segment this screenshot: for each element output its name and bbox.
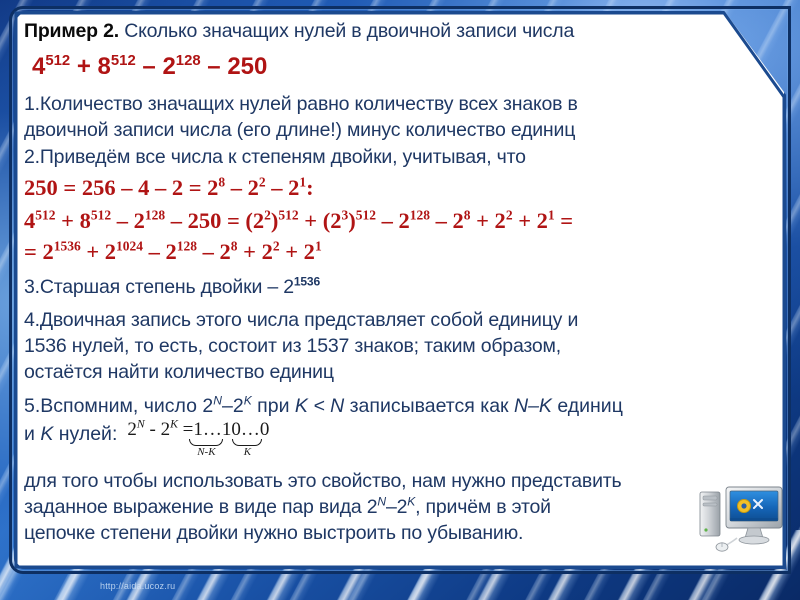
- step-5-lead: и K нулей:: [24, 421, 117, 447]
- fe1-s2: 512: [91, 208, 111, 223]
- expr-op-3: –: [207, 53, 220, 80]
- step-2-text: 2.Приведём все числа к степеням двойки, …: [24, 144, 784, 170]
- s5-i2: N–K: [514, 395, 552, 417]
- s5-p7: нулей:: [53, 423, 117, 445]
- fe1-p9: – 2: [430, 208, 464, 233]
- formula-250: 250 = 256 – 4 – 2 = 28 – 22 – 21:: [24, 174, 784, 202]
- step-6-line-3: цепочке степени двойки нужно выстроить п…: [24, 520, 784, 546]
- step-4-line-2: 1536 нулей, то есть, состоит из 1537 зна…: [24, 333, 784, 359]
- s6-supK: K: [407, 495, 415, 509]
- fe1-s8: 128: [410, 208, 430, 223]
- mi-base2: 2: [161, 419, 171, 440]
- expr-exp-3: 128: [176, 53, 201, 69]
- formula-250-exp-2: 2: [259, 175, 266, 190]
- fe1-s1: 512: [35, 208, 55, 223]
- formula-250-tail: :: [306, 175, 314, 200]
- heading-text: Сколько значащих нулей в двоичной записи…: [124, 20, 574, 42]
- step-1-line-2: двоичной записи числа (его длине!) минус…: [24, 117, 784, 143]
- step-6-line-1: для того чтобы использовать это свойство…: [24, 468, 784, 494]
- fe1-s5: 512: [278, 208, 298, 223]
- fe1-s3: 128: [145, 208, 165, 223]
- underbrace-right-curve: [232, 439, 262, 446]
- s5-p2: –2: [222, 395, 244, 417]
- s5-s1: N: [213, 394, 222, 408]
- fe1-p11: + 2: [513, 208, 548, 233]
- watermark-url: http://aida.ucoz.ru: [100, 581, 175, 591]
- mi-eq: =: [183, 419, 194, 440]
- expr-base-2: 8: [98, 53, 111, 80]
- formula-250-mid-2: – 2: [266, 175, 300, 200]
- heading-label: Пример 2.: [24, 20, 119, 42]
- s5-p4: записывается как: [344, 395, 514, 417]
- s6-p1: заданное выражение в виде пар вида 2: [24, 496, 377, 518]
- underbrace-left: N-K: [189, 439, 223, 458]
- binary-identity-formula: 2N - 2K =1…10…0 N-K K: [127, 419, 269, 455]
- s5-p1: 5.Вспомним, число 2: [24, 395, 213, 417]
- expr-op-1: +: [77, 53, 91, 80]
- main-expression: 4512 + 8512 – 2128 – 250: [32, 52, 784, 82]
- fe1-s11: 1: [548, 208, 555, 223]
- underbrace-left-curve: [189, 439, 223, 446]
- desktop-computer-icon: [694, 482, 786, 556]
- step-4-line-1: 4.Двоичная запись этого числа представля…: [24, 307, 784, 333]
- step-4-line-3: остаётся найти количество единиц: [24, 359, 784, 385]
- step-5-line-1: 5.Вспомним, число 2N–2K при K < N записы…: [24, 393, 784, 419]
- fe2-s2: 1024: [116, 239, 143, 254]
- fe1-p12: =: [555, 208, 573, 233]
- s6-p3: , причём в этой: [415, 496, 551, 518]
- fe2-s6: 1: [315, 239, 322, 254]
- mi-digit-mid: 0: [231, 419, 241, 440]
- formula-expand-line-1: 4512 + 8512 – 2128 – 250 = (22)512 + (23…: [24, 207, 784, 235]
- slide-heading: Пример 2. Сколько значащих нулей в двоич…: [24, 18, 784, 44]
- formula-250-mid-1: – 2: [225, 175, 259, 200]
- s5-p3: при: [252, 395, 295, 417]
- mi-digits-a: 1…1: [193, 419, 231, 440]
- step-5-line-2: и K нулей: 2N - 2K =1…10…0 N-K K: [24, 421, 784, 457]
- fe2-p5: + 2: [238, 239, 273, 264]
- step-3-line: 3.Старшая степень двойки – 21536: [24, 274, 784, 300]
- mi-minus: -: [149, 419, 155, 440]
- formula-expand-line-2: = 21536 + 21024 – 2128 – 28 + 22 + 21: [24, 238, 784, 266]
- step-1-line-1: 1.Количество значащих нулей равно количе…: [24, 91, 784, 117]
- fe2-p6: + 2: [280, 239, 315, 264]
- step-3-exponent: 1536: [294, 275, 320, 289]
- s5-i1: K < N: [295, 395, 344, 417]
- expr-exp-2: 512: [111, 53, 136, 69]
- underbrace-right: K: [232, 439, 262, 458]
- fe2-p1: = 2: [24, 239, 54, 264]
- fe2-s5: 2: [273, 239, 280, 254]
- mi-base: 2: [127, 419, 137, 440]
- fe2-p2: + 2: [81, 239, 116, 264]
- mi-digits-b: …0: [241, 419, 270, 440]
- s5-p6: и: [24, 423, 40, 445]
- fe1-p6: + (2: [299, 208, 342, 233]
- expr-base-1: 4: [32, 53, 45, 80]
- fe2-s3: 128: [177, 239, 197, 254]
- s6-supN: N: [377, 495, 386, 509]
- fe1-s10: 2: [506, 208, 513, 223]
- fe1-p10: + 2: [470, 208, 505, 233]
- underbrace-group: N-K K: [127, 439, 269, 455]
- underbrace-left-label: N-K: [189, 447, 223, 458]
- slide-content: Пример 2. Сколько значащих нулей в двоич…: [24, 14, 784, 566]
- fe1-s4: 2: [264, 208, 271, 223]
- s5-p5: единиц: [552, 395, 623, 417]
- fe1-p3: – 2: [111, 208, 145, 233]
- formula-250-lhs: 250 = 256 – 4 – 2 = 2: [24, 175, 218, 200]
- step-6-line-2: заданное выражение в виде пар вида 2N–2K…: [24, 494, 784, 520]
- mi-supN: N: [137, 418, 145, 431]
- fe1-p2: + 8: [56, 208, 91, 233]
- fe1-p1: 4: [24, 208, 35, 233]
- s6-p2: –2: [386, 496, 407, 518]
- expr-term-4: 250: [227, 53, 267, 80]
- s5-s2: K: [244, 394, 252, 408]
- mi-supK: K: [170, 418, 178, 431]
- fe1-p4: – 250 = (2: [165, 208, 264, 233]
- binary-identity-row: 2N - 2K =1…10…0: [127, 419, 269, 440]
- expr-base-3: 2: [162, 53, 175, 80]
- fe1-s7: 512: [356, 208, 376, 223]
- fe2-s1: 1536: [54, 239, 81, 254]
- s5-i3: K: [40, 423, 53, 445]
- underbrace-right-label: K: [232, 447, 262, 458]
- fe2-p4: – 2: [197, 239, 231, 264]
- fe2-s4: 8: [231, 239, 238, 254]
- fe1-p8: – 2: [376, 208, 410, 233]
- slide-canvas: Пример 2. Сколько значащих нулей в двоич…: [0, 0, 800, 600]
- expr-op-2: –: [142, 53, 155, 80]
- fe1-p7: ): [348, 208, 356, 233]
- expr-exp-1: 512: [45, 53, 70, 69]
- fe2-p3: – 2: [143, 239, 177, 264]
- step-3-text: 3.Старшая степень двойки – 2: [24, 276, 294, 298]
